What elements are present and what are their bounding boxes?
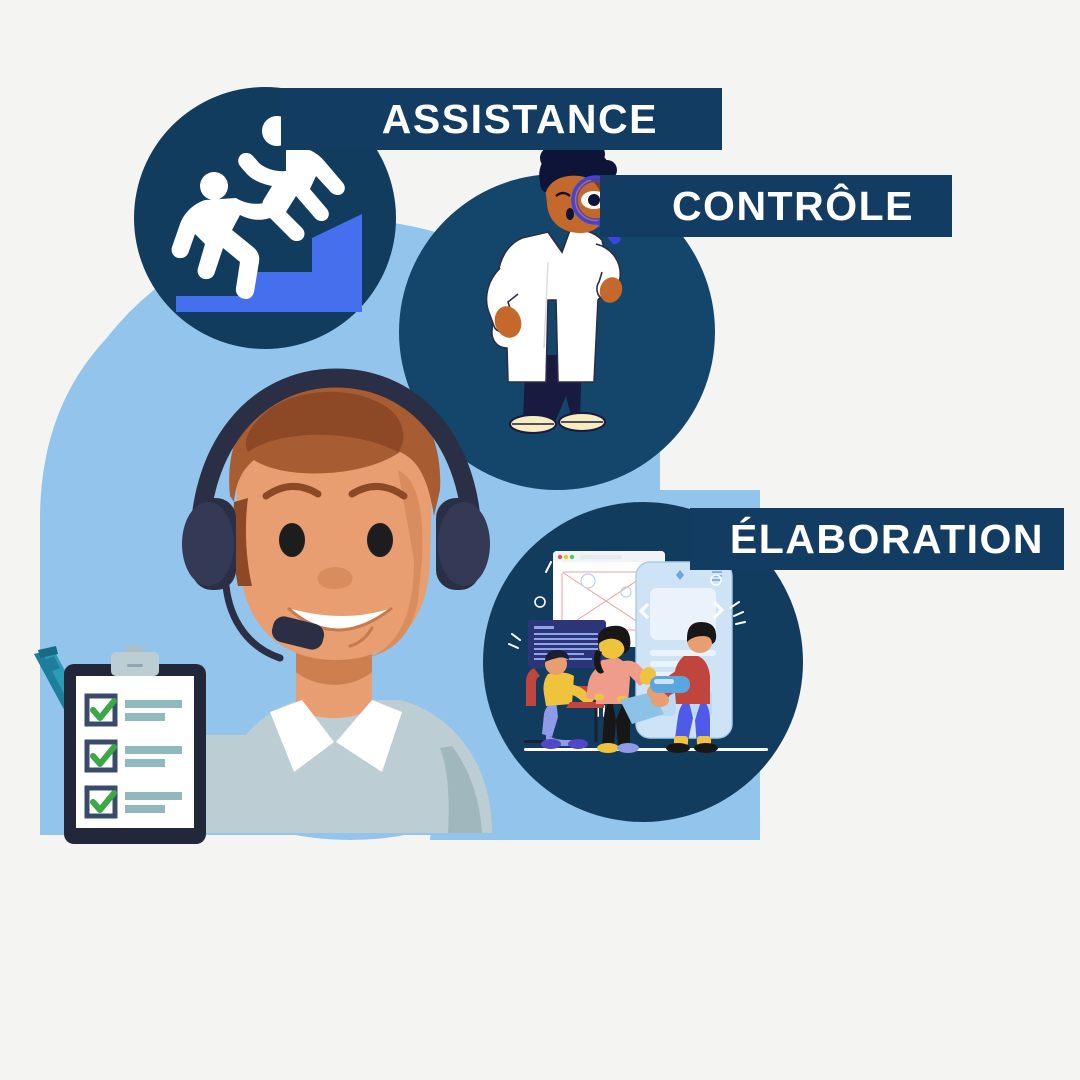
banner-controle[interactable]: CONTRÔLE — [600, 175, 952, 237]
banner-assistance-label: ASSISTANCE — [382, 99, 658, 140]
banner-assistance[interactable]: ASSISTANCE — [281, 88, 722, 150]
infographic-canvas: ASSISTANCE CONTRÔLE ÉLABORATION — [0, 0, 1080, 1080]
banner-controle-label: CONTRÔLE — [672, 186, 914, 227]
banner-elaboration[interactable]: ÉLABORATION — [690, 508, 1064, 570]
banner-elaboration-label: ÉLABORATION — [730, 519, 1044, 560]
